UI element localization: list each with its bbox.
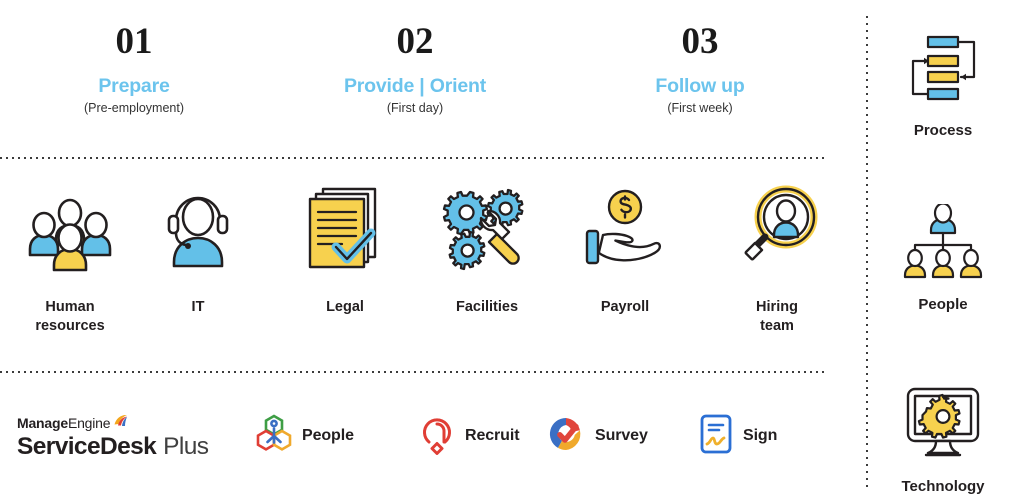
department-label-line2: team bbox=[702, 317, 852, 336]
product-survey[interactable]: Survey bbox=[546, 405, 648, 467]
servicedesk-plus-wordmark: ServiceDeskPlus bbox=[17, 435, 208, 460]
product-people[interactable]: People bbox=[255, 405, 354, 467]
department-label: Hiring team bbox=[702, 298, 852, 336]
step-number: 02 bbox=[295, 20, 535, 64]
step-03: 03 Follow up (First week) bbox=[580, 20, 820, 117]
pillar-label: Technology bbox=[876, 478, 1010, 495]
pillar-people: People bbox=[876, 196, 1010, 313]
department-hiring-team: Hiring team bbox=[702, 182, 852, 336]
product-servicedesk-plus[interactable]: ManageEngine ServiceDeskPlus bbox=[17, 405, 208, 467]
department-it: IT bbox=[123, 182, 273, 317]
step-subtitle: (First day) bbox=[295, 100, 535, 117]
step-01: 01 Prepare (Pre-employment) bbox=[14, 20, 254, 117]
gears-wrench-icon bbox=[412, 182, 562, 277]
servicedesk-word: ServiceDesk bbox=[17, 433, 156, 460]
steps-row: 01 Prepare (Pre-employment) 02 Provide |… bbox=[0, 20, 828, 140]
manageengine-servicedesk-logo: ManageEngine ServiceDeskPlus bbox=[17, 412, 208, 460]
department-label: Legal bbox=[270, 298, 420, 317]
zoho-people-hexagons-icon bbox=[255, 414, 293, 459]
infographic-canvas: 01 Prepare (Pre-employment) 02 Provide |… bbox=[0, 0, 1010, 496]
divider-bottom bbox=[0, 371, 828, 373]
department-label: Facilities bbox=[412, 298, 562, 317]
manageengine-wordmark: ManageEngine bbox=[17, 412, 208, 430]
manageengine-engine: Engine bbox=[68, 416, 110, 430]
step-02: 02 Provide | Orient (First day) bbox=[295, 20, 535, 117]
product-sign[interactable]: Sign bbox=[698, 405, 777, 467]
pillar-label: Process bbox=[876, 122, 1010, 139]
step-subtitle: (First week) bbox=[580, 100, 820, 117]
step-title: Prepare bbox=[14, 74, 254, 98]
step-subtitle: (Pre-employment) bbox=[14, 100, 254, 117]
department-label-line1: IT bbox=[123, 298, 273, 317]
department-label-line2: resources bbox=[0, 317, 145, 336]
divider-top bbox=[0, 157, 828, 159]
manageengine-swoosh-icon bbox=[112, 412, 129, 430]
department-label-line1: Payroll bbox=[550, 298, 700, 317]
product-label: Recruit bbox=[465, 427, 519, 445]
pillars-rail: Process bbox=[876, 0, 1010, 496]
zoho-sign-document-icon bbox=[698, 413, 734, 460]
product-label: People bbox=[302, 427, 354, 445]
step-title: Follow up bbox=[580, 74, 820, 98]
department-facilities: Facilities bbox=[412, 182, 562, 317]
step-title: Provide | Orient bbox=[295, 74, 535, 98]
headset-support-agent-icon bbox=[123, 182, 273, 277]
hand-dollar-coin-icon bbox=[550, 182, 700, 277]
zoho-survey-circle-check-icon bbox=[546, 414, 586, 459]
divider-vertical bbox=[866, 16, 868, 490]
product-label: Survey bbox=[595, 427, 648, 445]
department-label-line1: Facilities bbox=[412, 298, 562, 317]
zoho-recruit-pin-icon bbox=[418, 413, 456, 460]
product-label: Sign bbox=[743, 427, 777, 445]
magnifier-person-icon bbox=[702, 182, 852, 277]
plus-word: Plus bbox=[163, 433, 208, 460]
flowchart-bars-icon bbox=[876, 22, 1010, 114]
department-label-line1: Hiring bbox=[702, 298, 852, 317]
document-checkmark-icon bbox=[270, 182, 420, 277]
pillar-process: Process bbox=[876, 22, 1010, 139]
product-recruit[interactable]: Recruit bbox=[418, 405, 519, 467]
pillar-label: People bbox=[876, 296, 1010, 313]
manageengine-manage: Manage bbox=[17, 416, 68, 430]
pillar-technology: Technology bbox=[876, 378, 1010, 495]
org-chart-people-icon bbox=[876, 196, 1010, 288]
step-number: 03 bbox=[580, 20, 820, 64]
departments-row: Human resources bbox=[0, 182, 828, 362]
department-label-line1: Legal bbox=[270, 298, 420, 317]
step-number: 01 bbox=[14, 20, 254, 64]
monitor-gear-icon bbox=[876, 378, 1010, 470]
department-label: Payroll bbox=[550, 298, 700, 317]
department-payroll: Payroll bbox=[550, 182, 700, 317]
department-legal: Legal bbox=[270, 182, 420, 317]
department-label: IT bbox=[123, 298, 273, 317]
products-row: ManageEngine ServiceDeskPlus bbox=[0, 405, 828, 480]
